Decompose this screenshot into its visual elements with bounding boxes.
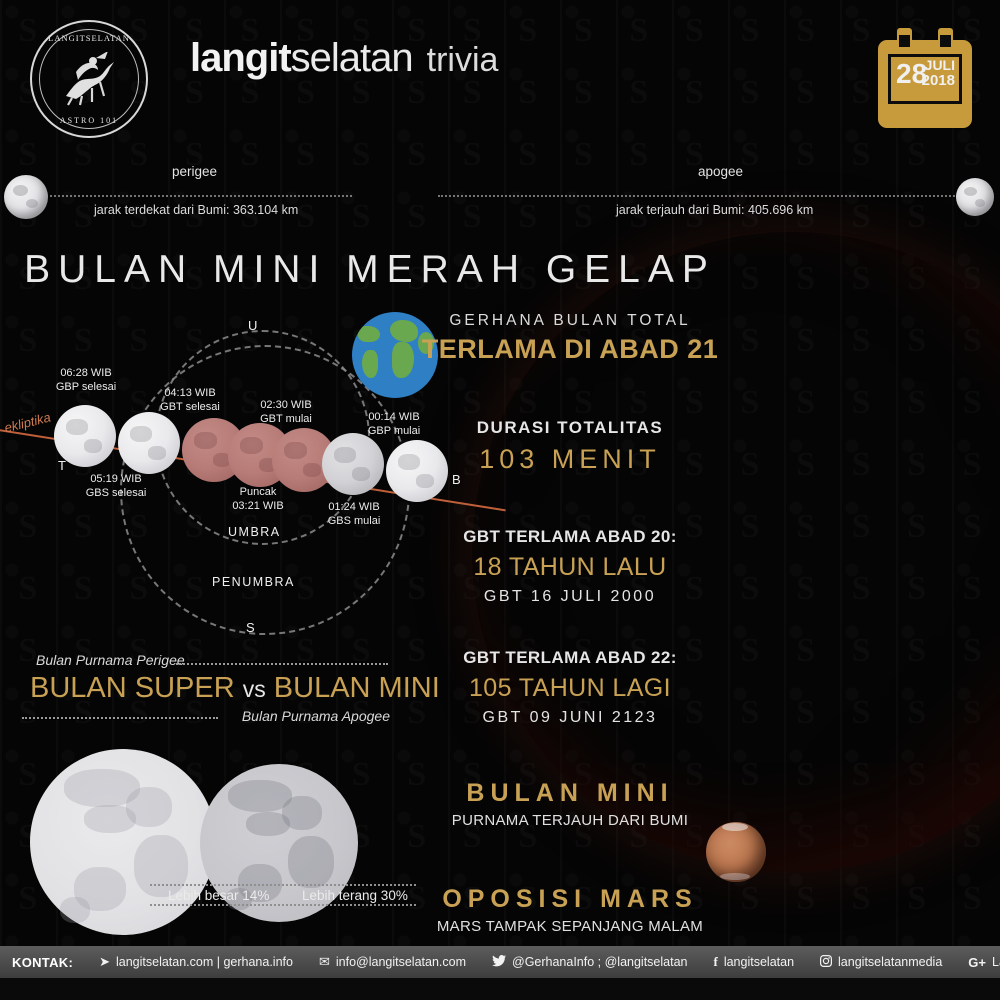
phase-moon-2 <box>118 412 180 474</box>
brand-part-1: langit <box>190 36 291 80</box>
footer-item-email[interactable]: ✉ info@langitselatan.com <box>319 954 466 970</box>
footer-item-googleplus-text: LangitselatanMedia <box>992 955 1000 969</box>
apogee-dotted-line <box>438 195 958 197</box>
direction-north: U <box>248 318 257 333</box>
footer-item-email-text: info@langitselatan.com <box>336 955 466 969</box>
footer-item-facebook[interactable]: f langitselatan <box>713 954 794 970</box>
perigee-label: perigee <box>172 164 217 179</box>
comparison-title-left: BULAN SUPER <box>30 672 235 704</box>
comparison-title-vs: vs <box>243 676 266 702</box>
century20-label: GBT TERLAMA ABAD 20: <box>400 527 740 547</box>
century20-value: 18 TAHUN LALU <box>400 553 740 582</box>
header: LANGITSELATAN ASTRO 101 langitselatantri… <box>0 0 1000 150</box>
comparison-top-label: Bulan Purnama Perigee <box>36 652 185 668</box>
footer-item-googleplus[interactable]: G+ LangitselatanMedia <box>968 955 1000 970</box>
comparison-top-rule <box>176 663 388 665</box>
comparison-title: BULAN SUPER vs BULAN MINI <box>30 672 440 705</box>
mars-subtitle: MARS TAMPAK SEPANJANG MALAM <box>400 918 740 935</box>
brand-part-3: trivia <box>427 41 499 79</box>
phase-label-1: 06:28 WIB GBP selesai <box>28 366 144 394</box>
stats-column: GERHANA BULAN TOTAL TERLAMA DI ABAD 21 D… <box>400 312 740 935</box>
footer-kontak-label: KONTAK: <box>12 955 73 970</box>
perigee-moon-icon <box>4 175 48 219</box>
rss-icon: ➤ <box>99 954 110 970</box>
footer-contact-bar: KONTAK: ➤ langitselatan.com | gerhana.in… <box>0 946 1000 978</box>
century22-value: 105 TAHUN LAGI <box>400 674 740 703</box>
page-title: BULAN MINI MERAH GELAP <box>0 248 740 292</box>
footer-item-facebook-text: langitselatan <box>724 955 794 969</box>
calendar-icon: 28 JULI 2018 <box>878 28 972 128</box>
duration-label: DURASI TOTALITAS <box>400 418 740 438</box>
century22-label: GBT TERLAMA ABAD 22: <box>400 648 740 668</box>
caption-bigger: Lebih besar 14% <box>168 888 269 903</box>
caption-rule <box>150 904 416 906</box>
penumbra-label: PENUMBRA <box>212 575 295 589</box>
calendar-ring-left <box>897 28 912 50</box>
phase-moon-6 <box>322 433 384 495</box>
footer-item-twitter[interactable]: @GerhanaInfo ; @langitselatan <box>492 955 687 970</box>
apogee-label: apogee <box>698 164 743 179</box>
brand-title: langitselatantrivia <box>190 36 498 81</box>
mars-title: OPOSISI MARS <box>400 885 740 914</box>
footer-item-twitter-text: @GerhanaInfo ; @langitselatan <box>512 955 687 969</box>
langitselatan-logo: LANGITSELATAN ASTRO 101 <box>30 20 148 138</box>
umbra-label: UMBRA <box>228 525 281 539</box>
calendar-screen: 28 JULI 2018 <box>888 54 962 104</box>
minimoon-title: BULAN MINI <box>400 779 740 808</box>
phase-label-6: 01:24 WIB GBS mulai <box>296 500 412 528</box>
calendar-year: 2018 <box>922 73 955 89</box>
eclipse-headline: TERLAMA DI ABAD 21 <box>400 334 740 365</box>
comparison-bottom-label: Bulan Purnama Apogee <box>242 708 390 724</box>
orbit-band: perigee jarak terdekat dari Bumi: 363.10… <box>0 150 1000 245</box>
comparison-title-right: BULAN MINI <box>274 672 440 704</box>
supermoon-illustration <box>30 749 216 935</box>
googleplus-icon: G+ <box>968 955 986 970</box>
perigee-value: jarak terdekat dari Bumi: 363.104 km <box>94 203 298 217</box>
phase-label-5: 02:30 WIB GBT mulai <box>228 398 344 426</box>
footer-item-website[interactable]: ➤ langitselatan.com | gerhana.info <box>99 954 293 970</box>
direction-west: T <box>58 458 66 473</box>
century20-date: GBT 16 JULI 2000 <box>400 588 740 606</box>
horse-rider-icon <box>58 52 120 106</box>
footer-item-instagram[interactable]: langitselatanmedia <box>820 955 942 970</box>
calendar-ring-right <box>938 28 953 50</box>
logo-ring-top-text: LANGITSELATAN <box>32 33 146 43</box>
email-icon: ✉ <box>319 954 330 970</box>
footer-item-instagram-text: langitselatanmedia <box>838 955 942 969</box>
eclipse-kicker: GERHANA BULAN TOTAL <box>400 312 740 330</box>
brand-part-2: selatan <box>291 36 413 80</box>
comparison-bottom-rule <box>22 717 218 719</box>
caption-rule-top <box>150 884 416 886</box>
direction-south: S <box>246 620 255 635</box>
apogee-moon-icon <box>956 178 994 216</box>
logo-ring-bottom-text: ASTRO 101 <box>32 116 146 125</box>
phase-label-2: 05:19 WIB GBS selesai <box>58 472 174 500</box>
duration-value: 103 MENIT <box>400 444 740 475</box>
caption-brighter: Lebih terang 30% <box>302 888 408 903</box>
apogee-value: jarak terjauh dari Bumi: 405.696 km <box>616 203 813 217</box>
century22-date: GBT 09 JUNI 2123 <box>400 709 740 727</box>
facebook-icon: f <box>713 954 717 970</box>
footer-item-website-text: langitselatan.com | gerhana.info <box>116 955 293 969</box>
instagram-icon <box>820 955 832 970</box>
calendar-month: JULI <box>925 58 955 73</box>
perigee-dotted-line <box>46 195 352 197</box>
footer-bottom-strip <box>0 978 1000 1000</box>
minimoon-subtitle: PURNAMA TERJAUH DARI BUMI <box>400 812 740 829</box>
twitter-icon <box>492 955 506 970</box>
